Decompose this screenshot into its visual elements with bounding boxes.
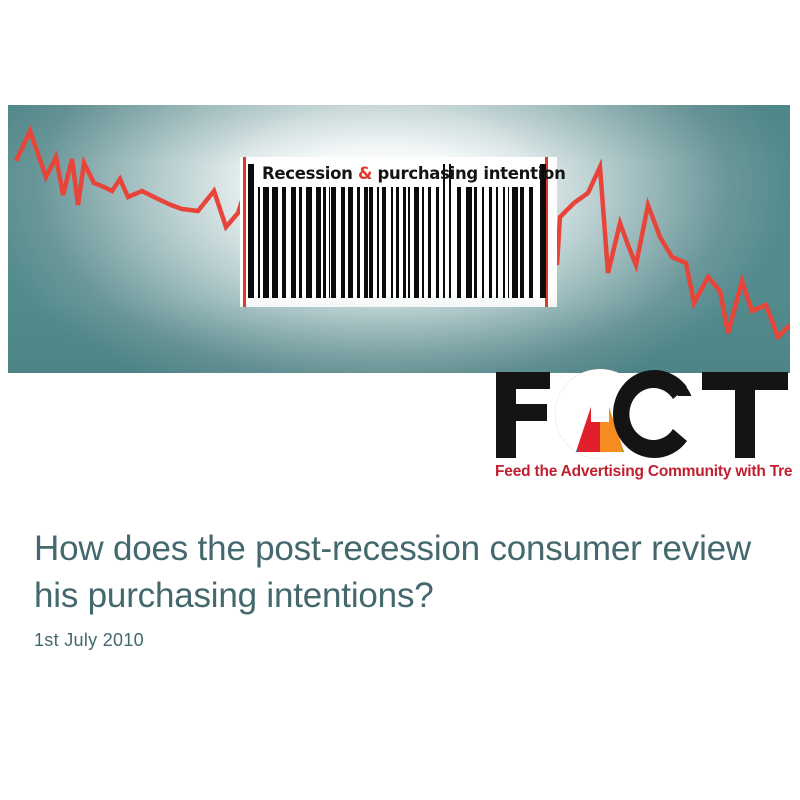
barcode-bar [422,187,424,298]
barcode-bar [512,187,518,298]
page-title: How does the post-recession consumer rev… [34,525,754,619]
barcode-bar [263,187,269,298]
barcode-bar [299,187,302,298]
barcode-bar [503,187,505,298]
barcode-bar [282,187,286,298]
barcode-bar [474,187,477,298]
recession-banner: Recession & purchasing intention [8,105,790,373]
logo-letter-t [702,372,788,458]
barcode-bar [348,187,353,298]
barcode-caption-ampersand: & [358,164,372,183]
barcode-bar [529,187,533,298]
barcode-bars [248,187,548,298]
barcode-bar [496,187,498,298]
logo-c-counter [631,391,677,437]
presentation-date: 1st July 2010 [34,630,144,651]
barcode-panel: Recession & purchasing intention [240,157,557,307]
fact-logo: Feed the Advertising Community with Tren… [492,366,792,481]
logo-tagline: Feed the Advertising Community with Tren… [495,463,792,480]
barcode-bar [457,187,461,298]
barcode-bar [248,164,254,298]
barcode-caption-part1: Recession [262,164,358,183]
barcode-bar [414,187,419,298]
barcode-bar [508,187,509,298]
barcode-caption: Recession & purchasing intention [262,164,542,183]
barcode-bar [382,187,386,298]
barcode-bar [377,187,379,298]
logo-c-mouth [678,396,702,432]
barcode-bar [482,187,484,298]
barcode-bar [403,187,406,298]
barcode-bar [443,164,445,298]
trend-line-right [557,167,790,337]
barcode-bar [306,187,312,298]
barcode-bar [329,187,330,298]
barcode-bar [449,164,451,298]
barcode-bar [291,187,296,298]
barcode-bar [316,187,321,298]
barcode-bar [369,187,373,298]
logo-letter-f [496,372,550,458]
barcode-bar [436,187,439,298]
barcode-bar [331,187,336,298]
barcode-bar [323,187,326,298]
barcode-bar [391,187,393,298]
barcode-bar [272,187,278,298]
barcode-bar [357,187,360,298]
barcode-bar [489,187,492,298]
trend-line-left [16,131,250,265]
barcode-bar [428,187,431,298]
barcode-bar [540,164,546,298]
barcode-bar [408,187,410,298]
barcode-bar [364,187,368,298]
barcode-bar [396,187,399,298]
barcode-caption-part2: purchasing intention [372,164,565,183]
barcode-bar [466,187,472,298]
barcode-rule-left [243,157,246,307]
barcode-bar [258,187,260,298]
barcode-bar [341,187,345,298]
barcode-bar [520,187,524,298]
